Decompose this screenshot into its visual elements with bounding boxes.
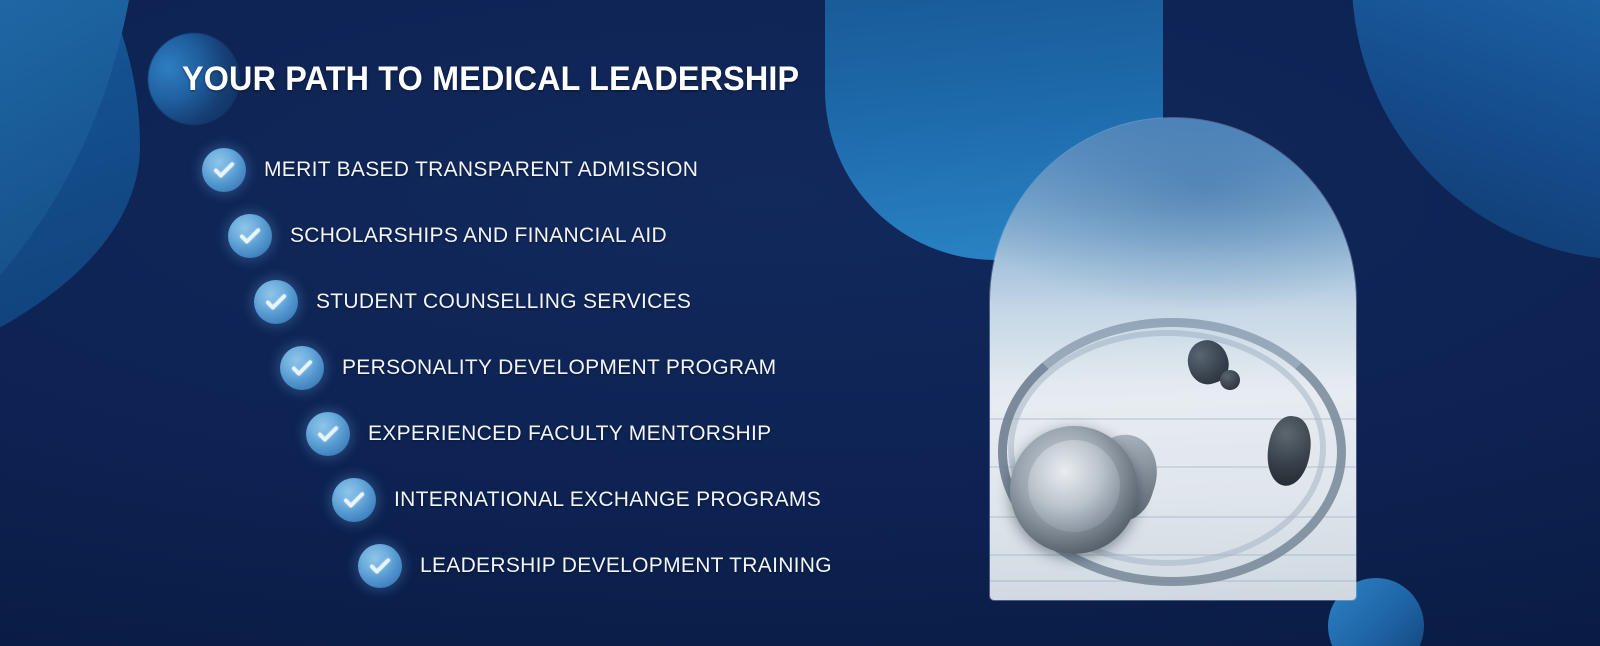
list-item-label: LEADERSHIP DEVELOPMENT TRAINING (420, 554, 832, 578)
check-circle-icon (202, 148, 246, 192)
page-title: YOUR PATH TO MEDICAL LEADERSHIP (182, 60, 799, 99)
list-item: PERSONALITY DEVELOPMENT PROGRAM (280, 341, 832, 395)
medical-leadership-banner: YOUR PATH TO MEDICAL LEADERSHIP MERIT BA… (0, 0, 1600, 646)
list-item: STUDENT COUNSELLING SERVICES (254, 275, 832, 329)
list-item-label: PERSONALITY DEVELOPMENT PROGRAM (342, 356, 776, 380)
list-item: MERIT BASED TRANSPARENT ADMISSION (202, 143, 832, 197)
check-circle-icon (228, 214, 272, 258)
check-circle-icon (280, 346, 324, 390)
list-item: LEADERSHIP DEVELOPMENT TRAINING (358, 539, 832, 593)
list-item-label: MERIT BASED TRANSPARENT ADMISSION (264, 158, 698, 182)
list-item-label: EXPERIENCED FACULTY MENTORSHIP (368, 422, 771, 446)
list-item-label: INTERNATIONAL EXCHANGE PROGRAMS (394, 488, 821, 512)
list-item-label: SCHOLARSHIPS AND FINANCIAL AID (290, 224, 667, 248)
list-item: INTERNATIONAL EXCHANGE PROGRAMS (332, 473, 832, 527)
check-circle-icon (306, 412, 350, 456)
banner-content: YOUR PATH TO MEDICAL LEADERSHIP MERIT BA… (0, 0, 1600, 646)
list-item: SCHOLARSHIPS AND FINANCIAL AID (228, 209, 832, 263)
list-item: EXPERIENCED FACULTY MENTORSHIP (306, 407, 832, 461)
list-item-label: STUDENT COUNSELLING SERVICES (316, 290, 691, 314)
check-circle-icon (332, 478, 376, 522)
check-circle-icon (358, 544, 402, 588)
check-circle-icon (254, 280, 298, 324)
feature-list: MERIT BASED TRANSPARENT ADMISSION SCHOLA… (0, 143, 832, 605)
